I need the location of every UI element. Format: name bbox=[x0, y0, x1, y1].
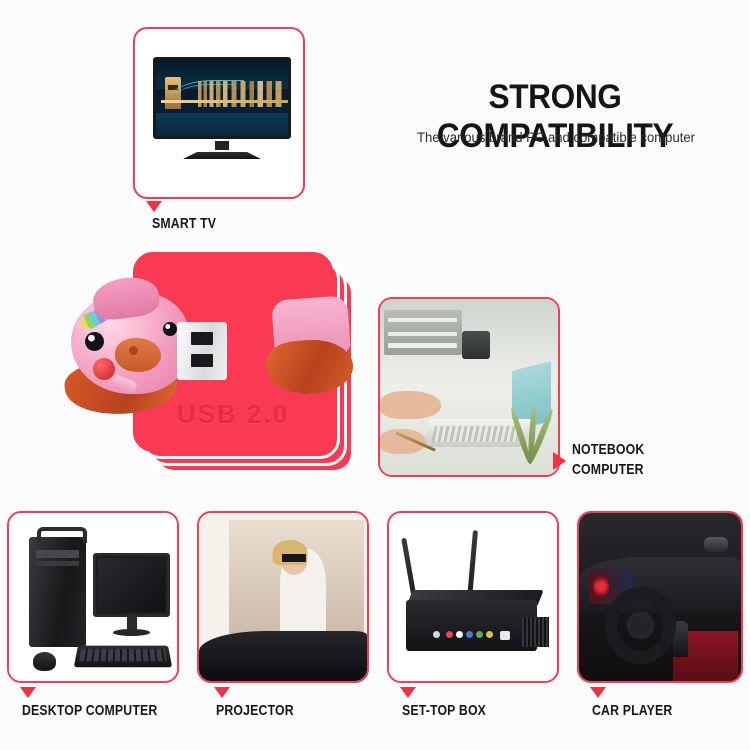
detached-drive-cap bbox=[267, 298, 353, 394]
rca-port-red bbox=[446, 631, 453, 638]
set-top-box-image bbox=[389, 513, 557, 681]
steering-wheel bbox=[605, 587, 676, 664]
usb-contact-slot-bottom bbox=[191, 354, 213, 367]
unicorn-snout bbox=[115, 338, 161, 372]
monitor-screen bbox=[98, 558, 165, 612]
rearview-mirror bbox=[704, 537, 728, 552]
tower-handle bbox=[37, 527, 87, 543]
marker-notebook-computer bbox=[553, 452, 566, 470]
marker-smart-tv bbox=[146, 201, 162, 212]
usb-contact-slot-top bbox=[191, 332, 213, 345]
desk-plant bbox=[515, 380, 554, 464]
marker-projector bbox=[214, 687, 230, 698]
desktop-computer-image bbox=[9, 513, 177, 681]
tachometer-dial bbox=[593, 576, 608, 597]
projected-image bbox=[229, 520, 363, 634]
smart-tv-image bbox=[135, 29, 303, 197]
unicorn-nostril bbox=[129, 346, 138, 355]
hand-on-trackpad bbox=[380, 391, 441, 419]
usb-a-connector bbox=[177, 322, 227, 380]
projector-body bbox=[199, 631, 367, 681]
page-subtitle: The various brand PC and compatible comp… bbox=[383, 130, 728, 145]
rca-port-blue bbox=[466, 631, 473, 638]
panel-car-player[interactable] bbox=[577, 511, 743, 683]
panel-notebook-computer[interactable] bbox=[378, 297, 560, 477]
tv-illustration bbox=[153, 57, 291, 163]
desktop-tower bbox=[29, 537, 86, 648]
set-top-box-chassis bbox=[406, 600, 537, 650]
poster-canvas: STRONG COMPATIBILITY The various brand P… bbox=[0, 0, 750, 750]
desk-phone bbox=[462, 331, 490, 359]
tv-stand bbox=[183, 141, 261, 159]
label-smart-tv: SMART TV bbox=[152, 215, 216, 232]
car-player-image bbox=[579, 513, 741, 681]
unicorn-eye bbox=[85, 332, 104, 351]
tv-foot bbox=[183, 152, 261, 159]
desk-shelf bbox=[384, 310, 462, 356]
label-desktop-computer: DESKTOP COMPUTER bbox=[22, 702, 157, 719]
panel-desktop-computer[interactable] bbox=[7, 511, 179, 683]
monitor-base bbox=[113, 629, 150, 636]
side-vent bbox=[522, 617, 549, 647]
unicorn-usb-flash-drive bbox=[71, 286, 361, 416]
tv-neck bbox=[215, 141, 229, 150]
product-card-stack: USB 2.0 bbox=[133, 252, 363, 480]
marker-desktop-computer bbox=[20, 687, 36, 698]
steering-wheel-hub bbox=[630, 617, 651, 634]
panel-smart-tv[interactable] bbox=[133, 27, 305, 199]
panel-set-top-box[interactable] bbox=[387, 511, 559, 683]
label-set-top-box: SET-TOP BOX bbox=[402, 702, 486, 719]
desktop-monitor bbox=[93, 553, 170, 617]
unicorn-eye-secondary bbox=[163, 322, 177, 336]
desktop-mouse bbox=[33, 652, 57, 670]
rca-port-green bbox=[476, 631, 483, 638]
sunglasses bbox=[282, 554, 306, 562]
notebook-computer-image bbox=[380, 299, 558, 475]
tower-optical-bay bbox=[36, 550, 79, 558]
label-projector: PROJECTOR bbox=[216, 702, 294, 719]
tv-screen bbox=[153, 57, 291, 139]
port-hdmi bbox=[433, 631, 440, 638]
label-notebook-computer: NOTEBOOK COMPUTER bbox=[572, 440, 644, 481]
projector-image bbox=[199, 513, 367, 681]
desktop-keyboard bbox=[74, 646, 172, 667]
laptop-keyboard bbox=[432, 426, 521, 442]
rca-port-white bbox=[456, 631, 463, 638]
tower-front-panel bbox=[36, 561, 79, 567]
marker-car-player bbox=[590, 687, 606, 698]
panel-projector[interactable] bbox=[197, 511, 369, 683]
ethernet-port bbox=[500, 631, 510, 640]
label-car-player: CAR PLAYER bbox=[592, 702, 672, 719]
marker-set-top-box bbox=[400, 687, 416, 698]
tv-water bbox=[156, 113, 288, 136]
